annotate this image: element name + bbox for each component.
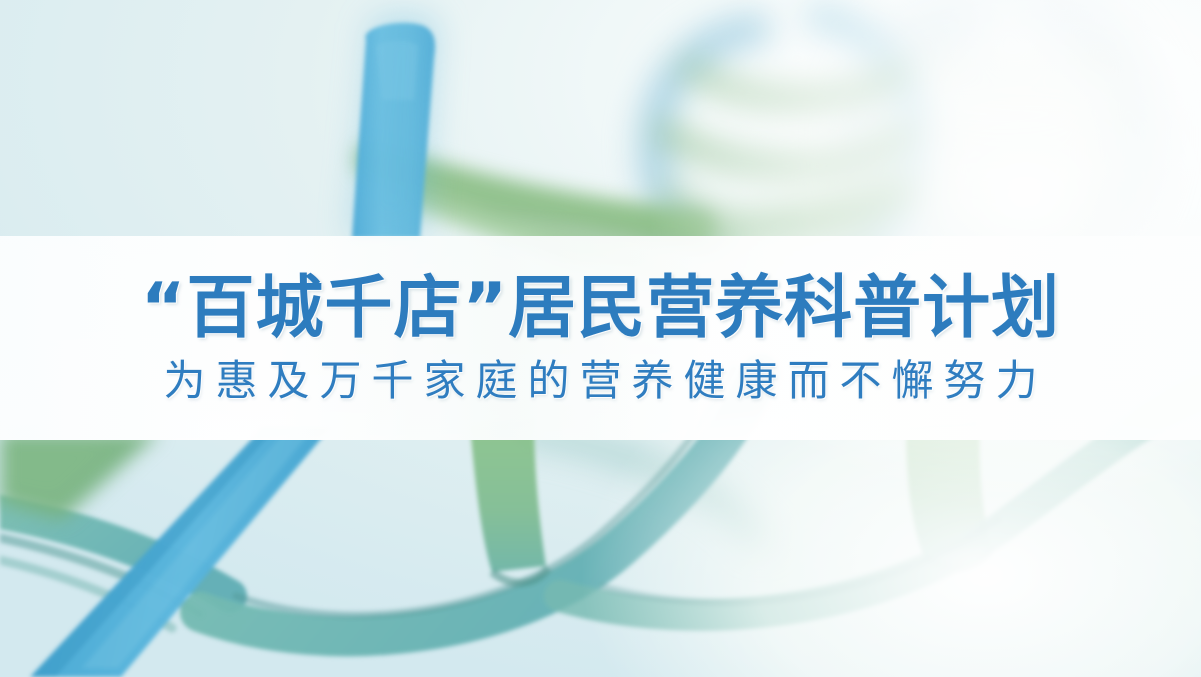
cover-slide: “百城千店”居民营养科普计划 为惠及万千家庭的营养健康而不懈努力 xyxy=(0,0,1201,677)
page-subtitle: 为惠及万千家庭的营养健康而不懈努力 xyxy=(153,360,1047,402)
title-band-content: “百城千店”居民营养科普计划 为惠及万千家庭的营养健康而不懈努力 xyxy=(0,236,1201,440)
page-title: “百城千店”居民营养科普计划 xyxy=(141,275,1060,343)
title-band: “百城千店”居民营养科普计划 为惠及万千家庭的营养健康而不懈努力 xyxy=(0,236,1201,440)
